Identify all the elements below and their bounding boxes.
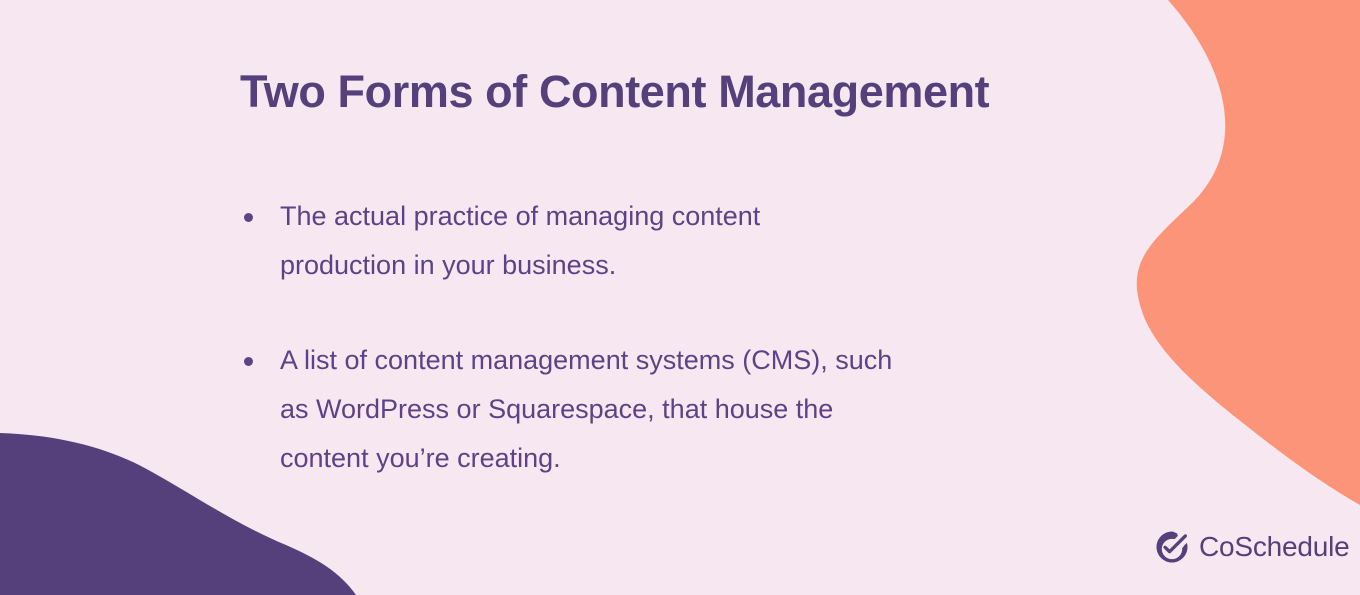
list-item-text: The actual practice of managing content … bbox=[280, 192, 1098, 290]
check-circle-icon bbox=[1155, 530, 1189, 564]
bullet-dot-icon bbox=[244, 357, 253, 366]
list-item-text: A list of content management systems (CM… bbox=[280, 336, 1098, 483]
coschedule-logo: CoSchedule bbox=[1155, 530, 1350, 564]
logo-wordmark: CoSchedule bbox=[1199, 533, 1350, 561]
slide-content: Two Forms of Content Management The actu… bbox=[0, 0, 1150, 595]
bullet-dot-icon bbox=[244, 213, 253, 222]
bullet-list: The actual practice of managing content … bbox=[238, 192, 1098, 483]
slide-canvas: Two Forms of Content Management The actu… bbox=[0, 0, 1360, 595]
page-title: Two Forms of Content Management bbox=[240, 66, 989, 118]
list-item: The actual practice of managing content … bbox=[238, 192, 1098, 290]
orange-wave-shape bbox=[1137, 0, 1360, 505]
list-item: A list of content management systems (CM… bbox=[238, 336, 1098, 483]
